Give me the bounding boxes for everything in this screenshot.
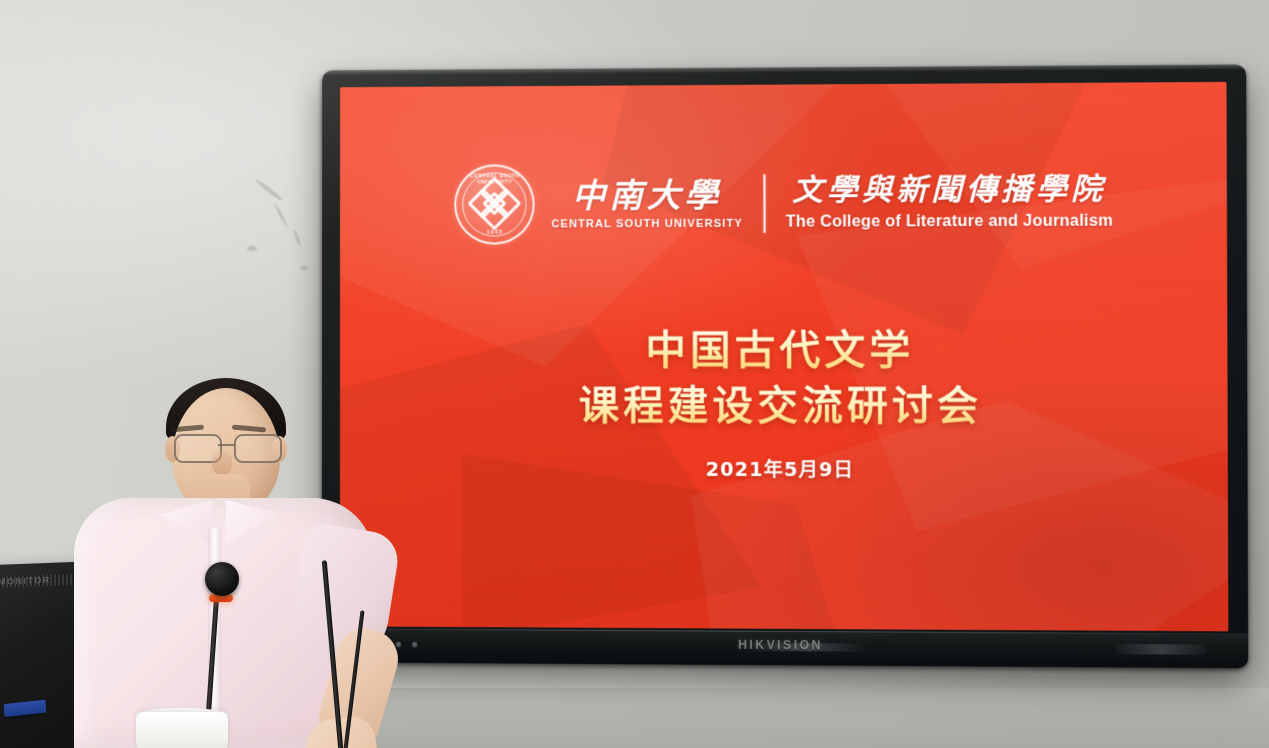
interactive-display[interactable]: CENTRAL SOUTH UNIVERSITY 1903 中南大學 CENTR… [322,64,1248,668]
microphone-capsule [205,562,239,596]
slide-title-line-1: 中国古代文学 [340,323,1228,379]
screenshot-root: CENTRAL SOUTH UNIVERSITY 1903 中南大學 CENTR… [0,0,1269,748]
slide-title-line-2: 课程建设交流研讨会 [340,379,1228,436]
slide-logo-lockup: CENTRAL SOUTH UNIVERSITY 1903 中南大學 CENTR… [392,162,1177,245]
seal-ring-bottom-text: 1903 [457,230,533,236]
slide-date: 2021年5月9日 [340,454,1228,483]
display-port-strip [1115,644,1206,655]
college-name-block: 文學與新聞傳播學院 The College of Literature and … [786,175,1113,232]
logo-divider [763,174,765,232]
wall-scuff [247,246,257,251]
white-cup [136,712,228,748]
college-name-en: The College of Literature and Journalism [786,212,1113,231]
display-brand-logo: HIKVISION [738,638,823,653]
monitor-brand-label: MONITOR [0,575,51,587]
presenter-nose [212,452,232,476]
college-name-cn: 文學與新聞傳播學院 [792,175,1106,207]
central-south-university-seal-icon: CENTRAL SOUTH UNIVERSITY 1903 [455,164,535,244]
display-screen[interactable]: CENTRAL SOUTH UNIVERSITY 1903 中南大學 CENTR… [340,82,1228,631]
university-name-en: CENTRAL SOUTH UNIVERSITY [551,217,743,230]
university-name-cn: 中南大學 [572,178,722,212]
display-bottom-bezel: HIKVISION [322,628,1248,668]
slide-title: 中国古代文学 课程建设交流研讨会 [340,323,1228,436]
vga-port-icon [4,700,47,717]
wall-scuff [300,266,308,270]
university-name-block: 中南大學 CENTRAL SOUTH UNIVERSITY [551,178,743,230]
